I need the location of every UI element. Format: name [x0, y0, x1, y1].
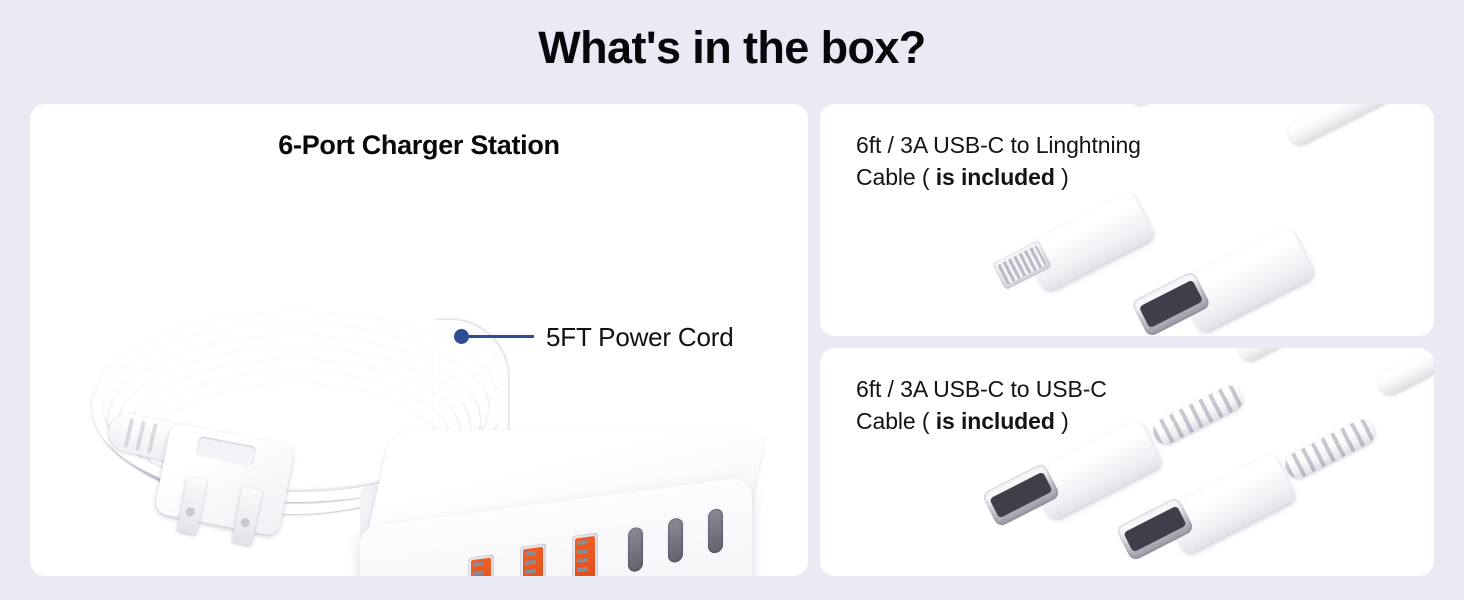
lightning-caption-bold: is included	[936, 164, 1055, 190]
lightning-cable-caption: 6ft / 3A USB-C to Linghtning Cable ( is …	[856, 130, 1276, 193]
callout-dot-icon	[454, 329, 469, 344]
usbc-caption-bold: is included	[936, 408, 1055, 434]
port-usb-a3	[468, 554, 494, 576]
lightning-caption-line1: 6ft / 3A USB-C to Linghtning	[856, 132, 1141, 158]
port-usb-c2	[668, 517, 683, 563]
port-usb-c3	[628, 527, 643, 573]
usbc-caption-prefix: Cable (	[856, 408, 936, 434]
callout-label: 5FT Power Cord	[546, 322, 733, 353]
usbc-caption-suffix: )	[1055, 408, 1069, 434]
infographic-page: What's in the box? 6-Port Charger Statio…	[0, 0, 1464, 600]
callout-leader-line	[468, 335, 534, 338]
port-usb-c1	[708, 508, 723, 554]
usbc-caption-line1: 6ft / 3A USB-C to USB-C	[856, 376, 1107, 402]
charger-station-card: 6-Port Charger Station	[30, 104, 808, 576]
lightning-caption-prefix: Cable (	[856, 164, 936, 190]
lightning-cable-card: 6ft / 3A USB-C to Linghtning Cable ( is …	[820, 104, 1434, 336]
charger-station-image	[360, 430, 780, 576]
usbc-cable-card: 6ft / 3A USB-C to USB-C Cable ( is inclu…	[820, 348, 1434, 576]
lightning-caption-suffix: )	[1055, 164, 1069, 190]
port-usb-a1	[572, 532, 598, 576]
page-title: What's in the box?	[0, 22, 1464, 74]
port-usb-a2	[520, 543, 546, 576]
charger-card-heading: 6-Port Charger Station	[30, 130, 808, 161]
